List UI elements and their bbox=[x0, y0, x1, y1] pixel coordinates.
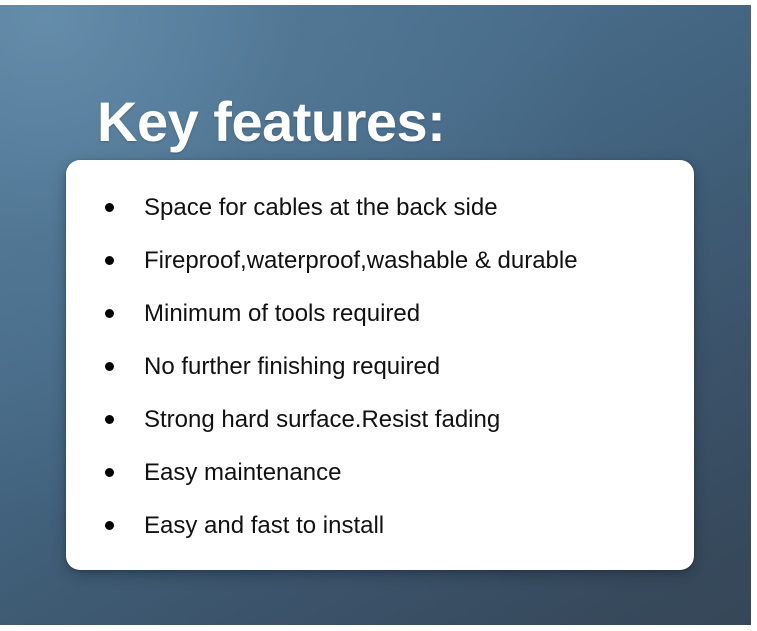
page-title: Key features: bbox=[97, 93, 445, 152]
list-item-label: Space for cables at the back side bbox=[114, 194, 668, 222]
list-item-label: No further finishing required bbox=[114, 353, 668, 381]
list-item-label: Easy and fast to install bbox=[114, 512, 668, 540]
bullet-dot-icon bbox=[105, 256, 114, 265]
list-item: Strong hard surface.Resist fading bbox=[92, 393, 668, 446]
list-item-label: Easy maintenance bbox=[114, 459, 668, 487]
bullet-dot-icon bbox=[105, 521, 114, 530]
list-item: Minimum of tools required bbox=[92, 287, 668, 340]
features-card: Space for cables at the back side Firepr… bbox=[66, 160, 694, 570]
bullet-dot-icon bbox=[105, 203, 114, 212]
bullet-dot-icon bbox=[105, 362, 114, 371]
bullet-dot-icon bbox=[105, 468, 114, 477]
list-item-label: Fireproof,waterproof,washable & durable bbox=[114, 247, 668, 275]
list-item-label: Minimum of tools required bbox=[114, 300, 668, 328]
slide-background: Key features: Space for cables at the ba… bbox=[0, 5, 751, 625]
list-item: Space for cables at the back side bbox=[92, 181, 668, 234]
list-item: Fireproof,waterproof,washable & durable bbox=[92, 234, 668, 287]
bullet-dot-icon bbox=[105, 309, 114, 318]
list-item: No further finishing required bbox=[92, 340, 668, 393]
features-list: Space for cables at the back side Firepr… bbox=[92, 181, 668, 552]
bullet-dot-icon bbox=[105, 415, 114, 424]
list-item-label: Strong hard surface.Resist fading bbox=[114, 406, 668, 434]
list-item: Easy maintenance bbox=[92, 446, 668, 499]
slide-frame: Key features: Space for cables at the ba… bbox=[0, 0, 757, 631]
list-item: Easy and fast to install bbox=[92, 499, 668, 552]
